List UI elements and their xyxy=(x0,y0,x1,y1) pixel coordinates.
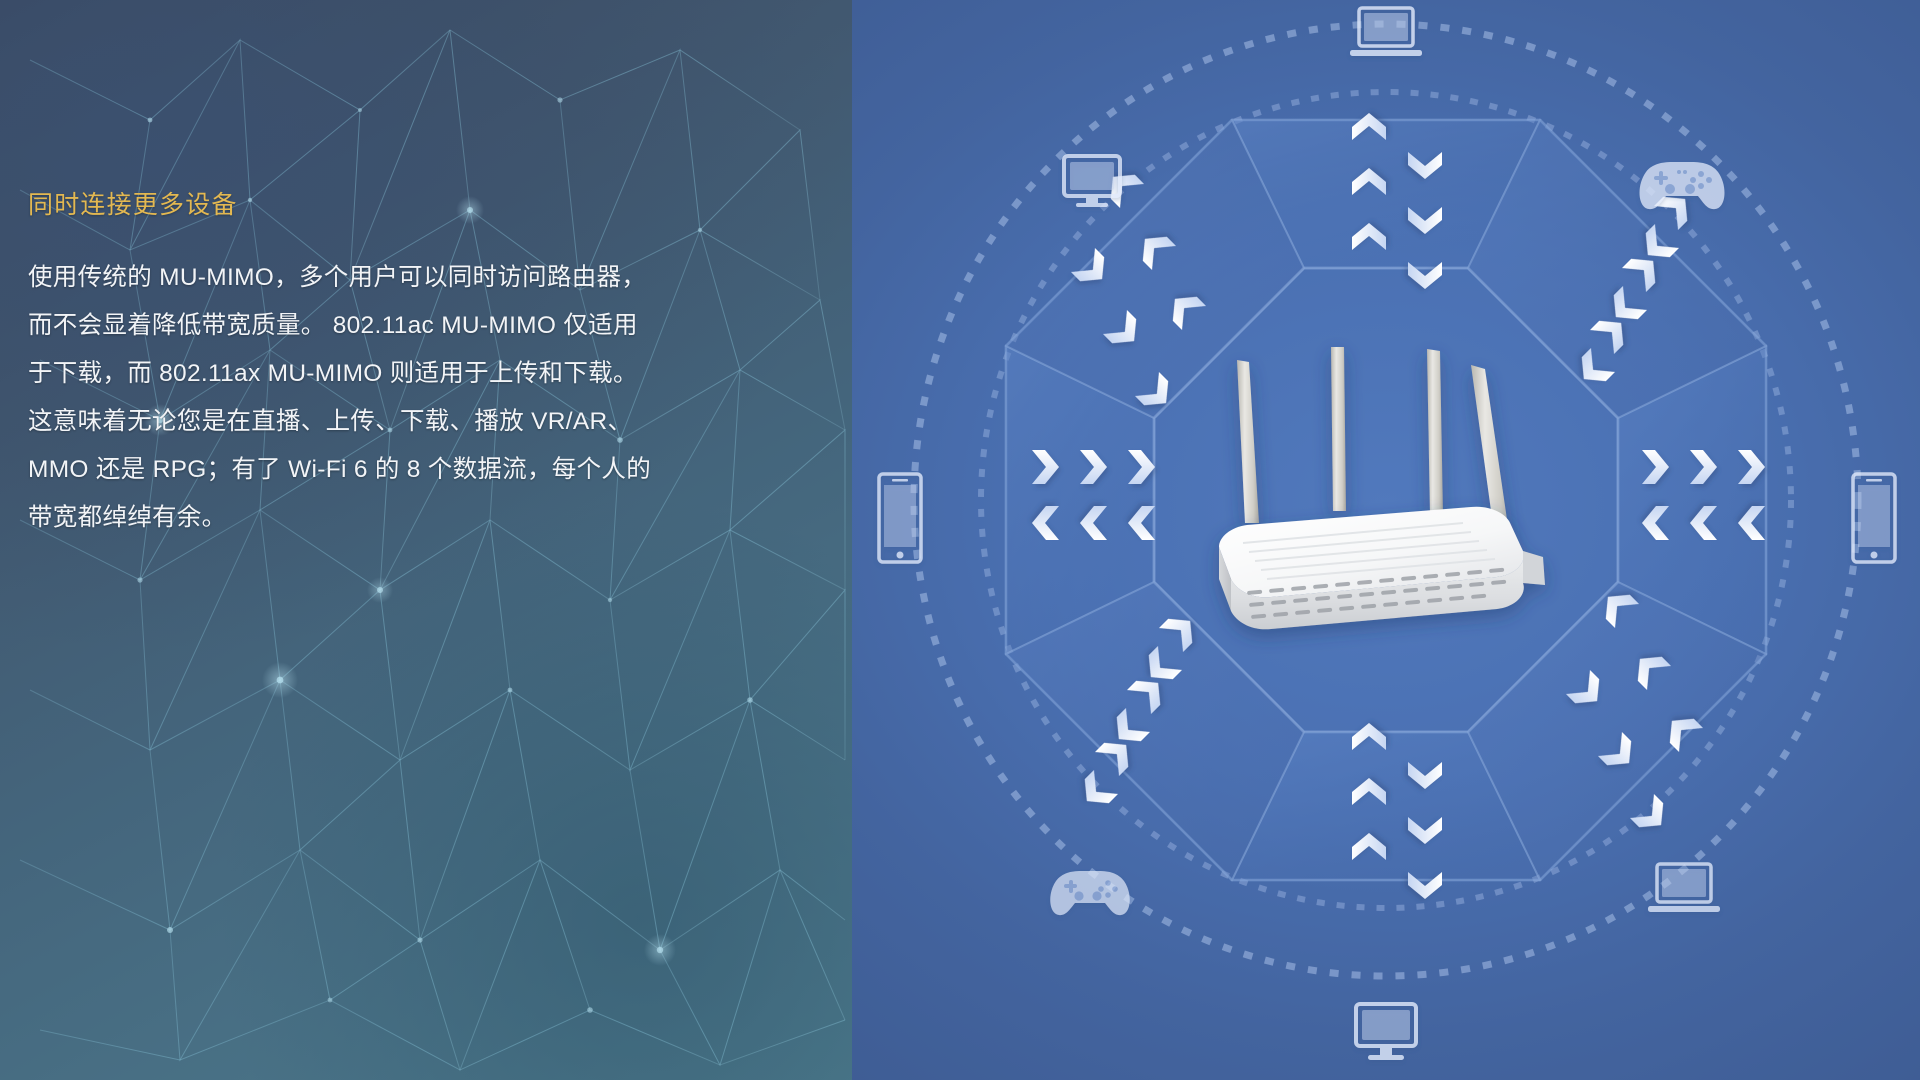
promo-page: 同时连接更多设备 使用传统的 MU-MIMO，多个用户可以同时访问路由器， 而不… xyxy=(0,0,1920,1080)
page-title: 同时连接更多设备 xyxy=(28,190,828,220)
paragraph-line: 这意味着无论您是在直播、上传、下载、播放 VR/AR、 xyxy=(28,398,700,446)
paragraph-line: 带宽都绰绰有余。 xyxy=(28,494,700,542)
body-paragraph: 使用传统的 MU-MIMO，多个用户可以同时访问路由器， 而不会显着降低带宽质量… xyxy=(28,254,700,542)
paragraph-line: 而不会显着降低带宽质量。 802.11ac MU-MIMO 仅适用 xyxy=(28,302,700,350)
smartphone-icon-left xyxy=(879,474,921,562)
gamepad-icon-bottom-left xyxy=(1050,871,1129,915)
laptop-icon-top xyxy=(1350,8,1422,56)
monitor-icon-bottom xyxy=(1356,1004,1416,1060)
paragraph-line: 使用传统的 MU-MIMO，多个用户可以同时访问路由器， xyxy=(28,254,700,302)
laptop-icon-bottom-right xyxy=(1648,864,1720,912)
paragraph-line: 于下载，而 802.11ax MU-MIMO 则适用于上传和下载。 xyxy=(28,350,700,398)
router-body xyxy=(1219,507,1545,630)
wifi-router xyxy=(1171,335,1601,665)
left-text-panel: 同时连接更多设备 使用传统的 MU-MIMO，多个用户可以同时访问路由器， 而不… xyxy=(0,0,852,1080)
left-copy-block: 同时连接更多设备 使用传统的 MU-MIMO，多个用户可以同时访问路由器， 而不… xyxy=(28,190,828,542)
paragraph-line: MMO 还是 RPG；有了 Wi-Fi 6 的 8 个数据流，每个人的 xyxy=(28,446,700,494)
right-illustration-panel xyxy=(852,0,1920,1080)
smartphone-icon-right xyxy=(1853,474,1895,562)
